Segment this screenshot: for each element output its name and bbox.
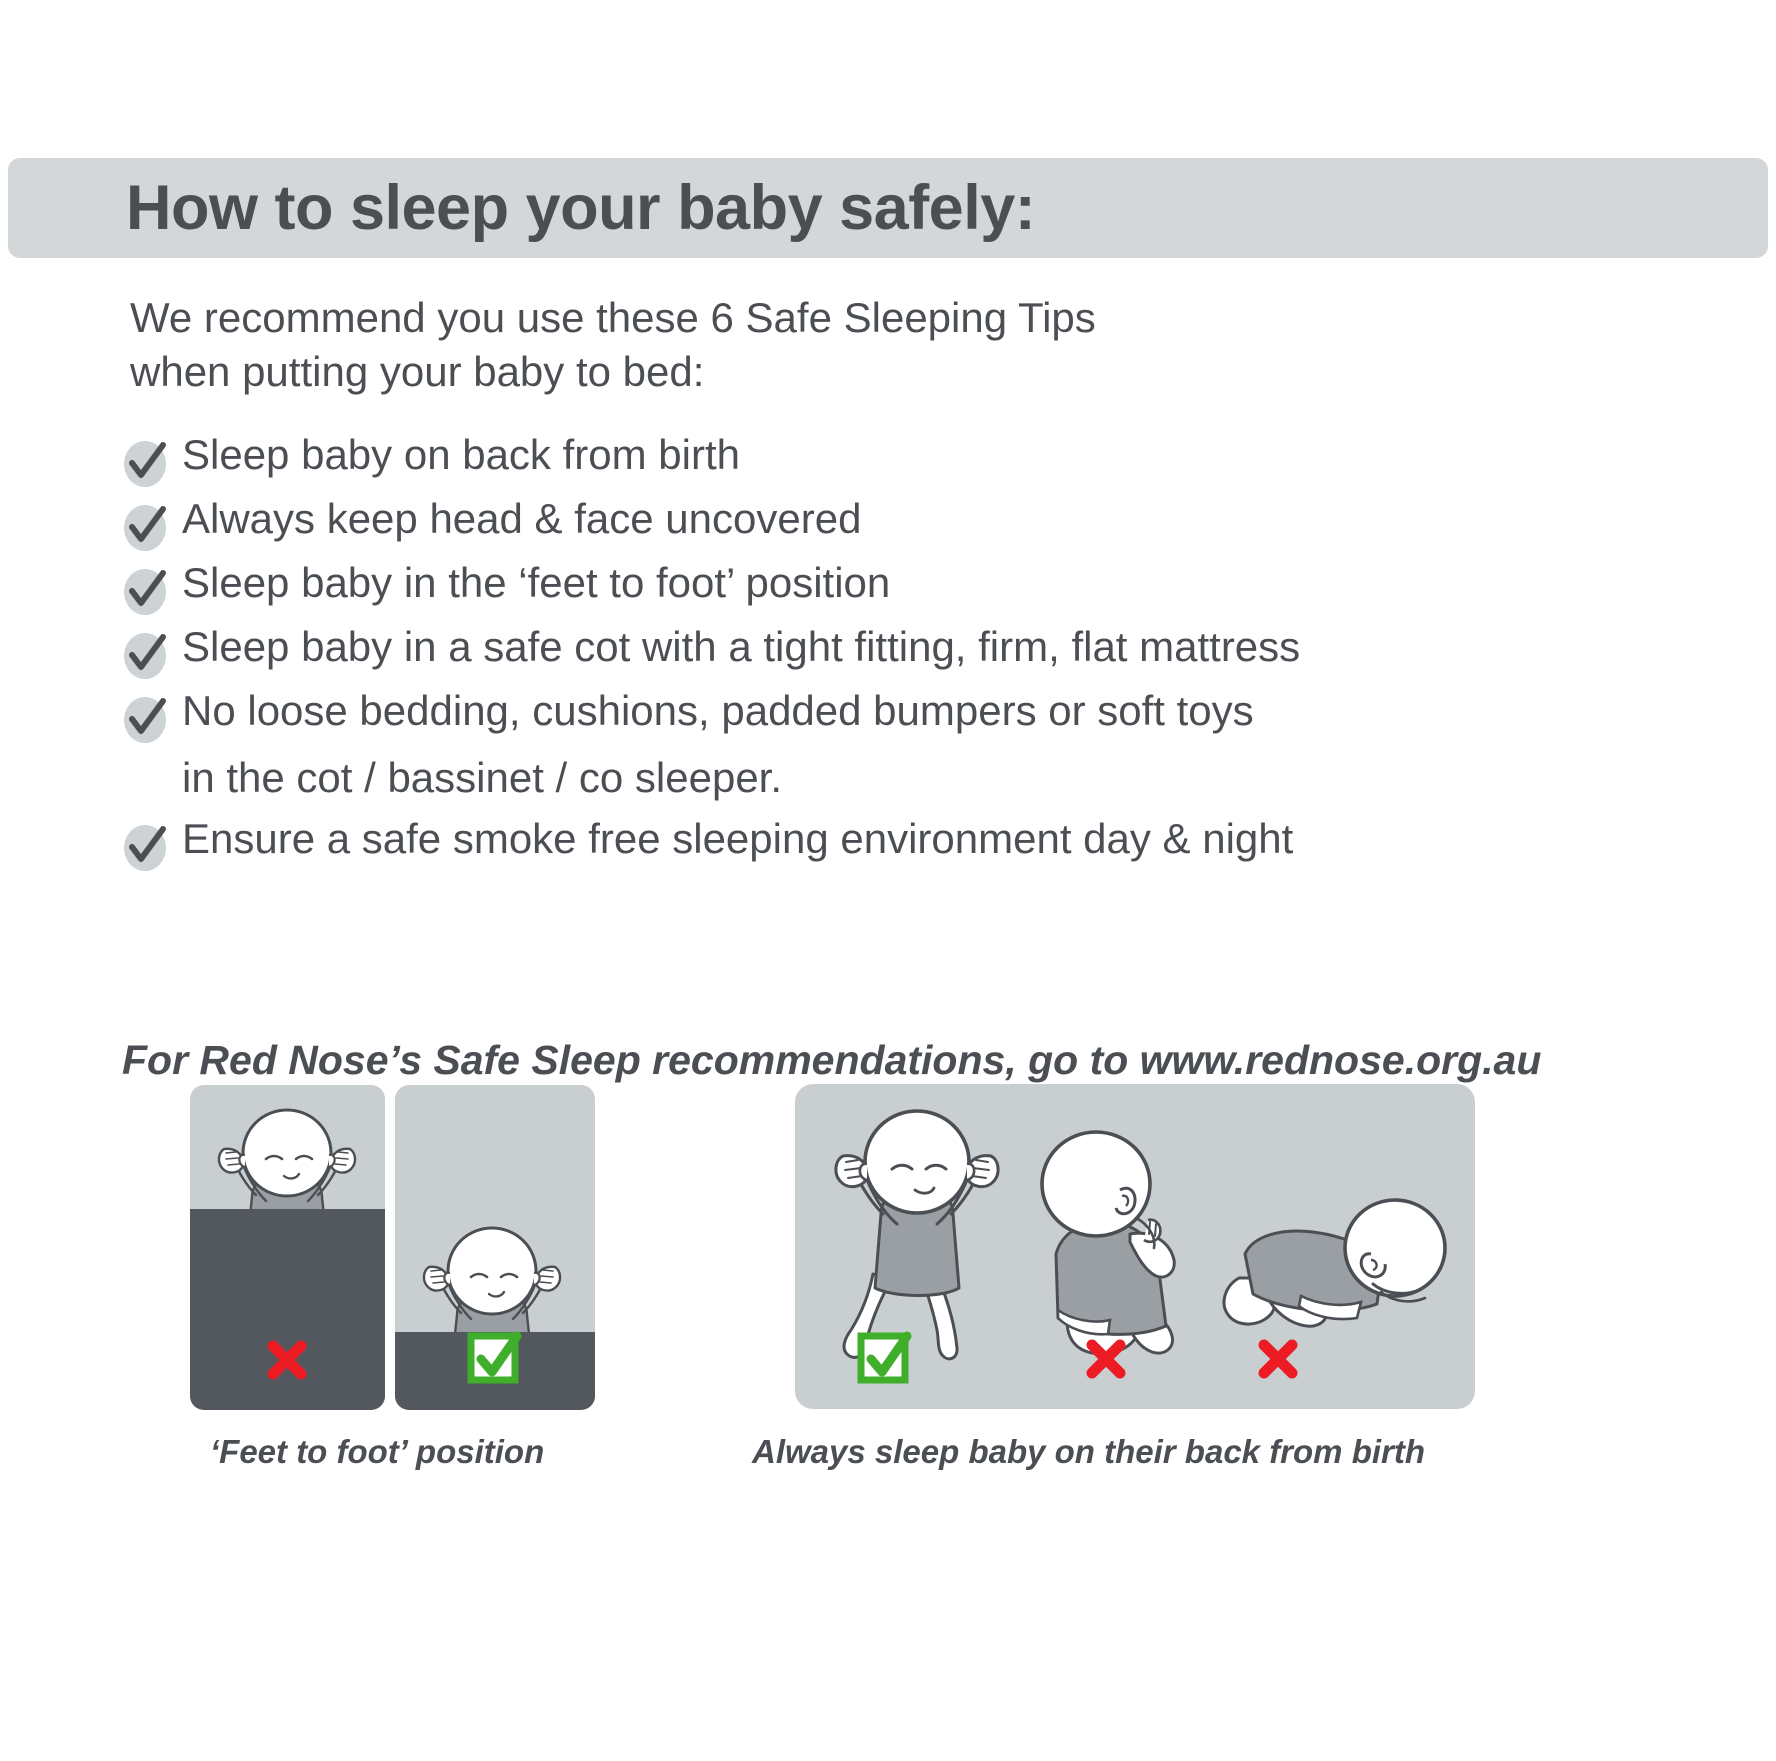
- check-box-icon: [467, 1330, 523, 1386]
- tip-item: No loose bedding, cushions, padded bumpe…: [122, 686, 1742, 750]
- tip-label: Always keep head & face uncovered: [182, 498, 861, 540]
- tip-item: Sleep baby in a safe cot with a tight fi…: [122, 622, 1742, 686]
- check-circle-icon: [122, 565, 172, 615]
- check-circle-icon: [122, 693, 172, 743]
- sleep-position-panel: [795, 1084, 1475, 1409]
- intro-line-1: We recommend you use these 6 Safe Sleepi…: [130, 291, 1530, 345]
- check-circle-icon: [122, 629, 172, 679]
- caption-feet-to-foot: ‘Feet to foot’ position: [210, 1433, 544, 1471]
- intro-paragraph: We recommend you use these 6 Safe Sleepi…: [130, 291, 1530, 399]
- tip-label: Ensure a safe smoke free sleeping enviro…: [182, 818, 1293, 860]
- tip-label: No loose bedding, cushions, padded bumpe…: [182, 690, 1254, 732]
- tip-item: Sleep baby on back from birth: [122, 430, 1742, 494]
- intro-line-2: when putting your baby to bed:: [130, 345, 1530, 399]
- cot-panel-baby-high-in-cot: [190, 1085, 385, 1410]
- check-circle-icon: [122, 437, 172, 487]
- page-title: How to sleep your baby safely:: [126, 172, 1035, 244]
- tip-label: Sleep baby on back from birth: [182, 434, 740, 476]
- tip-label: in the cot / bassinet / co sleeper.: [182, 754, 782, 802]
- baby-on-tummy-illustration: [1205, 1136, 1455, 1386]
- cot-panel-baby-feet-to-foot: [395, 1085, 595, 1410]
- tip-item: Ensure a safe smoke free sleeping enviro…: [122, 814, 1742, 878]
- baby-on-back-illustration: [813, 1102, 1043, 1372]
- tip-item: Always keep head & face uncovered: [122, 494, 1742, 558]
- page-header-bar: How to sleep your baby safely:: [8, 158, 1768, 258]
- caption-back-sleeping: Always sleep baby on their back from bir…: [752, 1433, 1425, 1471]
- check-box-icon: [857, 1330, 913, 1386]
- rednose-recommendation-note: For Red Nose’s Safe Sleep recommendation…: [122, 1037, 1541, 1084]
- illustration-area: ‘Feet to foot’ position: [0, 1085, 1776, 1645]
- tip-label: Sleep baby in a safe cot with a tight fi…: [182, 626, 1300, 668]
- tip-item-continuation: in the cot / bassinet / co sleeper.: [122, 750, 1742, 814]
- tip-label: Sleep baby in the ‘feet to foot’ positio…: [182, 562, 890, 604]
- x-icon: [264, 1337, 310, 1383]
- x-icon: [1255, 1336, 1301, 1382]
- tip-item: Sleep baby in the ‘feet to foot’ positio…: [122, 558, 1742, 622]
- x-icon: [1083, 1336, 1129, 1382]
- check-circle-icon: [122, 821, 172, 871]
- check-circle-icon: [122, 501, 172, 551]
- safe-sleeping-tips-list: Sleep baby on back from birth Always kee…: [122, 430, 1742, 878]
